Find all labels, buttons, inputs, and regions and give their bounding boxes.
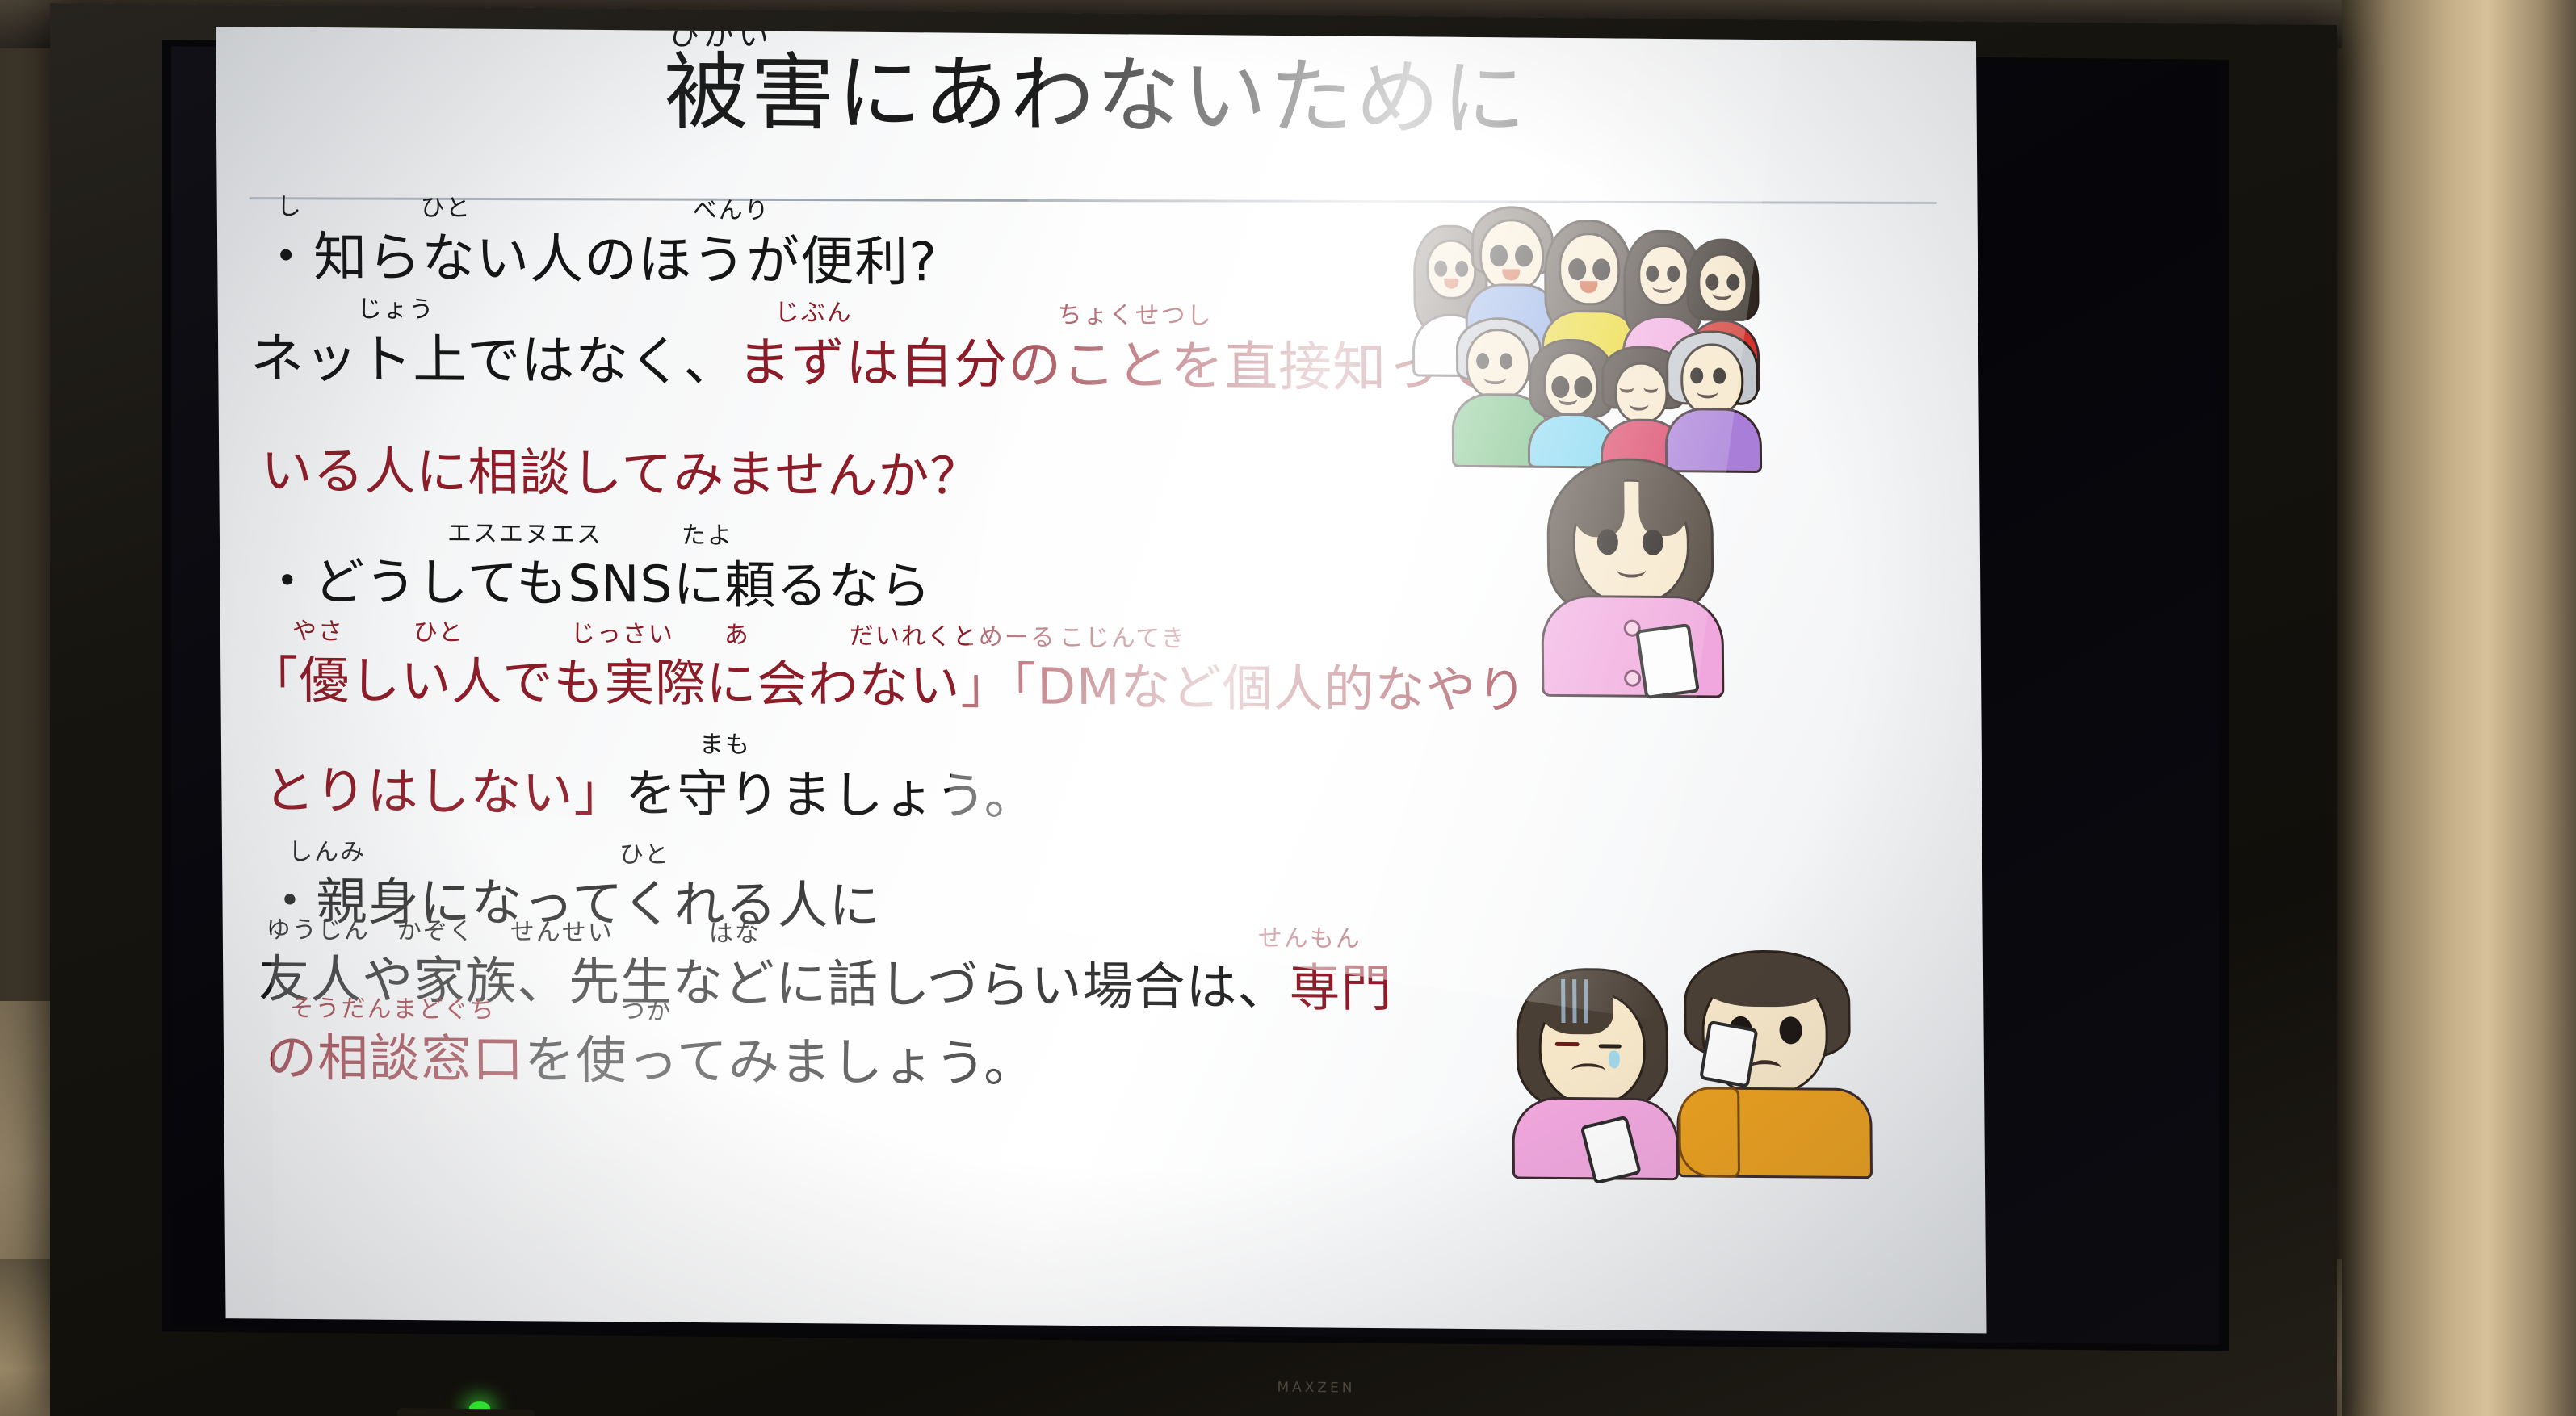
- tv-brand-label: MAXZEN: [1179, 1378, 1454, 1397]
- line-s1-l1-text: ・知らない人のほうが便利?: [259, 225, 938, 293]
- line-s3-l3-text-red: の相談窓口: [266, 1028, 525, 1090]
- line-s1-l2-text-red: まずは自分のことを直接知って: [737, 331, 1492, 400]
- furigana-jou: じょう: [358, 297, 435, 322]
- television: ひがい 被害にあわないために し ひと べんり: [50, 3, 2337, 1416]
- furigana-kazoku: かぞく: [397, 920, 475, 945]
- tv-stand-left: [397, 1408, 535, 1416]
- furigana-a: あ: [724, 623, 750, 647]
- furigana-soudan-madoguchi: そうだんまどぐち: [289, 997, 495, 1023]
- furigana-esuenuesu: エスエヌエス: [447, 522, 602, 547]
- furigana-hito-3: ひと: [619, 843, 670, 868]
- furigana-mamo: まも: [699, 733, 751, 758]
- furigana-hana: はな: [709, 922, 761, 947]
- title-furigana: ひがい: [669, 27, 773, 55]
- slide-title-block: ひがい 被害にあわないために: [216, 44, 1977, 147]
- line-s3-l3-text-black: を使ってみましょう。: [524, 1030, 1036, 1093]
- furigana-hito: ひと: [421, 196, 472, 221]
- girl-with-smartphone-illustration: [1535, 458, 1747, 693]
- furigana-shi: し: [277, 195, 303, 220]
- furigana-direct-mail: だいれくとめーる: [850, 625, 1056, 651]
- presentation-slide-area: ひがい 被害にあわないために し ひと べんり: [216, 27, 1986, 1333]
- line-s1-l2-text-black: ネット上ではなく、: [250, 327, 738, 393]
- furigana-yasa: やさ: [292, 620, 344, 645]
- line-s3-l2-text-red: 専門: [1289, 958, 1393, 1018]
- furigana-tsuka: つか: [620, 999, 672, 1024]
- line-s1-l3-text: いる人に相談してみませんか？: [261, 441, 982, 505]
- page-title: 被害にあわないために: [664, 43, 1529, 149]
- slide: ひがい 被害にあわないために し ひと べんり: [216, 27, 1986, 1333]
- line-s2-l3-text-red: とりはしない」: [263, 760, 626, 823]
- slide-content: ひがい 被害にあわないために し ひと べんり: [216, 27, 1986, 1333]
- line-s2-l2-text: 「優しい人でも実際に会わない」「DMなど個人的なやり: [248, 650, 1528, 719]
- furigana-sensei: せんせい: [510, 920, 614, 945]
- furigana-benri: べんり: [693, 199, 770, 224]
- furigana-jibun: じぶん: [775, 301, 853, 326]
- furigana-kojinteki: こじんてき: [1059, 626, 1187, 651]
- wall-right-post: [2342, 0, 2576, 1416]
- sad-girl-with-smartphone-illustration: [1511, 967, 1686, 1171]
- line-s2-l3-text-black: を守りましょう。: [625, 764, 1036, 826]
- room-scene: ひがい 被害にあわないために し ひと べんり: [0, 0, 2576, 1416]
- furigana-chokusetsushi: ちょくせつし: [1058, 304, 1213, 329]
- furigana-hito-2: ひと: [413, 621, 464, 646]
- furigana-shinmi: しんみ: [288, 840, 366, 865]
- group-of-nine-people-illustration: [1408, 194, 1757, 463]
- furigana-yuujin: ゆうじん: [266, 919, 370, 944]
- furigana-tayo: たよ: [682, 524, 733, 549]
- furigana-jissai: じっさい: [571, 622, 674, 647]
- line-s2-l1-text: ・どうしてもSNSに頼るなら: [262, 551, 932, 616]
- furigana-senmon: せんもん: [1258, 927, 1361, 952]
- worried-boy-on-phone-illustration: [1672, 949, 1876, 1173]
